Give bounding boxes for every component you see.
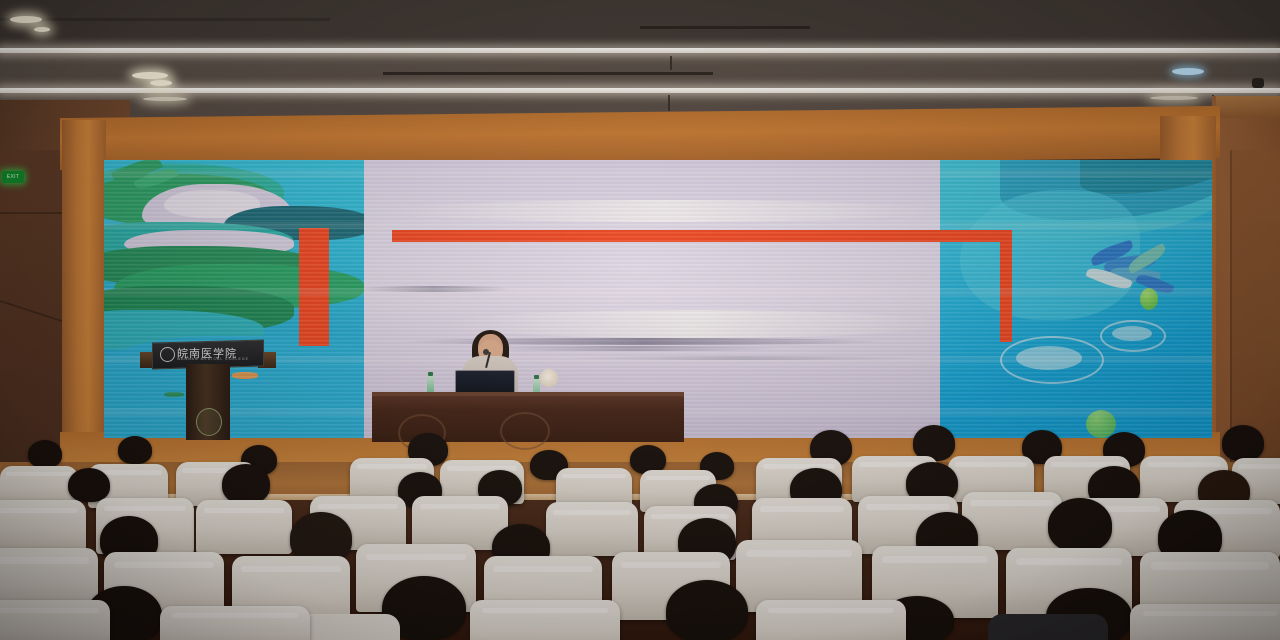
ceiling-fixture-stem-2 bbox=[668, 95, 670, 111]
ceiling-spotlight-5 bbox=[143, 97, 187, 101]
podium-emblem-icon bbox=[160, 347, 175, 362]
seat bbox=[0, 500, 86, 554]
seat bbox=[756, 600, 906, 640]
water-bottle-left-cap bbox=[428, 372, 433, 376]
water-ripple-large-fill bbox=[1016, 346, 1082, 370]
ceiling-spotlight-4 bbox=[150, 80, 172, 86]
green-leaf-bottom bbox=[1086, 410, 1116, 438]
faint-landscape-sketch-4 bbox=[364, 286, 514, 292]
ceiling-light-strip-2 bbox=[0, 88, 1280, 93]
ceiling-spotlight-6 bbox=[1150, 96, 1198, 100]
flower-arrangement bbox=[540, 369, 558, 387]
ceiling-light-strip-1 bbox=[0, 48, 1280, 53]
audience-head bbox=[666, 580, 748, 640]
ceiling-fixture-stem-1 bbox=[670, 56, 672, 70]
ceiling-seam-3 bbox=[0, 18, 330, 21]
podium-seal-icon bbox=[196, 408, 222, 436]
slide-accent-block-left bbox=[299, 228, 329, 346]
podium-logo-subtitle: WANNAN MEDICAL COLLEGE bbox=[177, 357, 249, 361]
water-ripple-small-fill bbox=[1112, 326, 1152, 341]
seat bbox=[470, 600, 620, 640]
right-cornice bbox=[1216, 96, 1280, 118]
seat bbox=[0, 600, 110, 640]
haze-band-2 bbox=[444, 310, 940, 338]
ceiling-spotlight-2 bbox=[34, 27, 50, 32]
ceiling-seam-2 bbox=[383, 72, 713, 75]
audience-head bbox=[68, 468, 110, 502]
ceiling-spotlight-3 bbox=[132, 72, 168, 79]
seat bbox=[160, 606, 310, 640]
audience-head bbox=[1222, 425, 1264, 461]
lily-pad-1 bbox=[164, 392, 184, 397]
small-boat bbox=[232, 372, 258, 379]
water-bottle-right-cap bbox=[534, 375, 539, 379]
ceiling-spotlight-1 bbox=[10, 16, 42, 23]
seat bbox=[196, 500, 292, 554]
auditorium-photo: EXIT bbox=[0, 0, 1280, 640]
seat bbox=[1130, 604, 1280, 640]
ceiling-projector bbox=[1252, 78, 1264, 88]
audience-head bbox=[118, 436, 152, 464]
exit-sign-label: EXIT bbox=[7, 174, 19, 180]
exit-sign: EXIT bbox=[2, 171, 24, 183]
audience-head bbox=[222, 464, 270, 504]
seat bbox=[546, 502, 638, 556]
slide-accent-bar-right bbox=[1000, 230, 1012, 342]
audience-head bbox=[1048, 498, 1112, 552]
ceiling-bay-1 bbox=[0, 0, 1280, 48]
head-table-panel-arc-2 bbox=[500, 412, 550, 450]
slide-accent-bar-top bbox=[392, 230, 1012, 242]
ceiling-seam-1 bbox=[640, 26, 810, 29]
faint-landscape-sketch-3 bbox=[564, 356, 924, 360]
green-fruit bbox=[1140, 288, 1158, 310]
audience-head bbox=[28, 440, 62, 468]
faint-landscape-sketch-2 bbox=[484, 346, 784, 351]
haze-band-1 bbox=[384, 200, 940, 222]
audience-shoulders bbox=[988, 614, 1108, 640]
ceiling-spotlight-blue bbox=[1172, 68, 1204, 75]
microphone-icon bbox=[483, 349, 489, 355]
slide-art-right-water bbox=[940, 160, 1212, 438]
